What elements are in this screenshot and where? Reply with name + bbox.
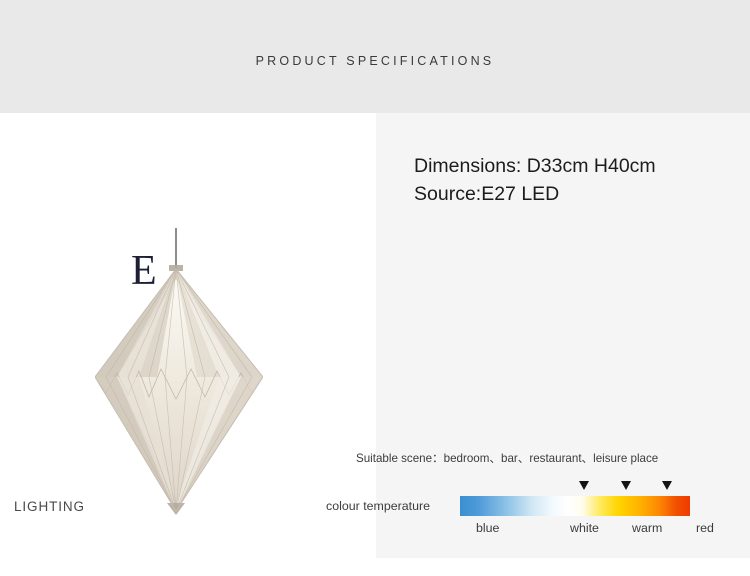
dimensions-line: Dimensions: D33cm H40cm	[414, 153, 656, 181]
tick-label-red: red	[696, 521, 714, 535]
page-title: PRODUCT SPECIFICATIONS	[0, 54, 750, 68]
tick-label-blue: blue	[476, 521, 499, 535]
colour-temperature-block: colour temperature blue white warm red	[326, 481, 746, 551]
warm-marker-icon	[621, 481, 631, 490]
white-marker-icon	[579, 481, 589, 490]
tick-label-white: white	[570, 521, 599, 535]
colour-temperature-tick-labels: blue white warm red	[460, 521, 690, 541]
lamp-shade-icon	[95, 265, 263, 515]
header-band: PRODUCT SPECIFICATIONS	[0, 0, 750, 113]
light-source-line: Source:E27 LED	[414, 181, 656, 209]
colour-temperature-gradient-bar	[460, 496, 690, 516]
red-marker-icon	[662, 481, 672, 490]
colour-temperature-label: colour temperature	[326, 499, 430, 513]
spec-text-block: Dimensions: D33cm H40cm Source:E27 LED	[414, 153, 656, 208]
brand-footer-label: LIGHTING	[14, 499, 85, 514]
specification-panel: Dimensions: D33cm H40cm Source:E27 LED S…	[376, 113, 750, 558]
tick-label-warm: warm	[632, 521, 662, 535]
suitable-scene-line: Suitable scene：bedroom、bar、restaurant、le…	[356, 450, 658, 466]
product-image-panel: E	[0, 113, 374, 576]
